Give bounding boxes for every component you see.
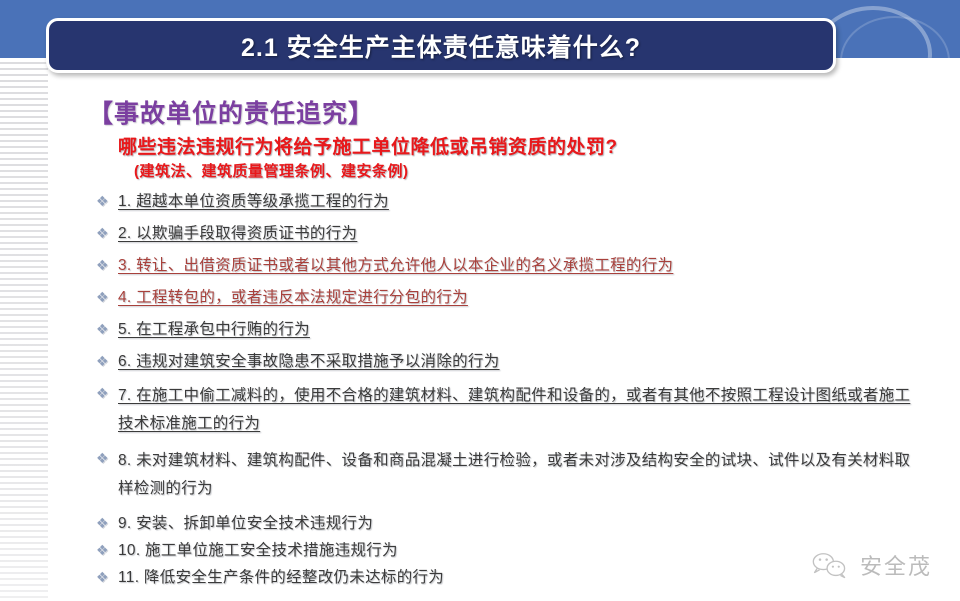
list-item-text: 5. 在工程承包中行贿的行为: [118, 318, 916, 341]
diamond-bullet-icon: ❖: [96, 350, 118, 372]
list-item: ❖4. 工程转包的，或者违反本法规定进行分包的行为: [96, 286, 916, 309]
diamond-bullet-icon: ❖: [96, 512, 118, 534]
diamond-bullet-icon: ❖: [96, 566, 118, 588]
violation-list: ❖1. 超越本单位资质等级承揽工程的行为❖2. 以欺骗手段取得资质证书的行为❖3…: [96, 190, 916, 593]
diamond-bullet-icon: ❖: [96, 382, 118, 404]
list-item: ❖10. 施工单位施工安全技术措施违规行为: [96, 539, 916, 562]
list-item-text: 11. 降低安全生产条件的经整改仍未达标的行为: [118, 566, 916, 589]
list-item: ❖9. 安装、拆卸单位安全技术违规行为: [96, 512, 916, 535]
source-references: (建筑法、建筑质量管理条例、建安条例): [134, 160, 409, 181]
diamond-bullet-icon: ❖: [96, 447, 118, 469]
diamond-bullet-icon: ❖: [96, 539, 118, 561]
list-item: ❖11. 降低安全生产条件的经整改仍未达标的行为: [96, 566, 916, 589]
list-item-text: 4. 工程转包的，或者违反本法规定进行分包的行为: [118, 286, 916, 309]
list-item-text: 3. 转让、出借资质证书或者以其他方式允许他人以本企业的名义承揽工程的行为: [118, 254, 916, 277]
question-heading: 哪些违法违规行为将给予施工单位降低或吊销资质的处罚?: [118, 132, 618, 159]
list-item-text: 10. 施工单位施工安全技术措施违规行为: [118, 539, 916, 562]
list-item: ❖1. 超越本单位资质等级承揽工程的行为: [96, 190, 916, 213]
diamond-bullet-icon: ❖: [96, 254, 118, 276]
watermark: 安全茂: [810, 549, 932, 581]
list-item: ❖8. 未对建筑材料、建筑构配件、设备和商品混凝土进行检验，或者未对涉及结构安全…: [96, 447, 916, 503]
diamond-bullet-icon: ❖: [96, 318, 118, 340]
diamond-bullet-icon: ❖: [96, 286, 118, 308]
list-item: ❖7. 在施工中偷工减料的，使用不合格的建筑材料、建筑构配件和设备的，或者有其他…: [96, 382, 916, 438]
list-item: ❖5. 在工程承包中行贿的行为: [96, 318, 916, 341]
section-heading: 【事故单位的责任追究】: [88, 94, 374, 130]
watermark-label: 安全茂: [860, 549, 932, 581]
list-item-text: 2. 以欺骗手段取得资质证书的行为: [118, 222, 916, 245]
list-item-text: 1. 超越本单位资质等级承揽工程的行为: [118, 190, 916, 213]
left-stripe-decoration: [0, 58, 48, 601]
page-title: 2.1 安全生产主体责任意味着什么?: [241, 28, 641, 64]
list-item: ❖6. 违规对建筑安全事故隐患不采取措施予以消除的行为: [96, 350, 916, 373]
list-item-text: 8. 未对建筑材料、建筑构配件、设备和商品混凝土进行检验，或者未对涉及结构安全的…: [118, 447, 916, 503]
list-item-text: 7. 在施工中偷工减料的，使用不合格的建筑材料、建筑构配件和设备的，或者有其他不…: [118, 382, 916, 438]
list-item-text: 9. 安装、拆卸单位安全技术违规行为: [118, 512, 916, 535]
wechat-icon: [810, 549, 850, 581]
list-item: ❖2. 以欺骗手段取得资质证书的行为: [96, 222, 916, 245]
slide-canvas: 2.1 安全生产主体责任意味着什么? 【事故单位的责任追究】 哪些违法违规行为将…: [0, 0, 960, 601]
slide-title-plaque: 2.1 安全生产主体责任意味着什么?: [46, 18, 836, 73]
diamond-bullet-icon: ❖: [96, 190, 118, 212]
list-item-text: 6. 违规对建筑安全事故隐患不采取措施予以消除的行为: [118, 350, 916, 373]
list-item: ❖3. 转让、出借资质证书或者以其他方式允许他人以本企业的名义承揽工程的行为: [96, 254, 916, 277]
diamond-bullet-icon: ❖: [96, 222, 118, 244]
